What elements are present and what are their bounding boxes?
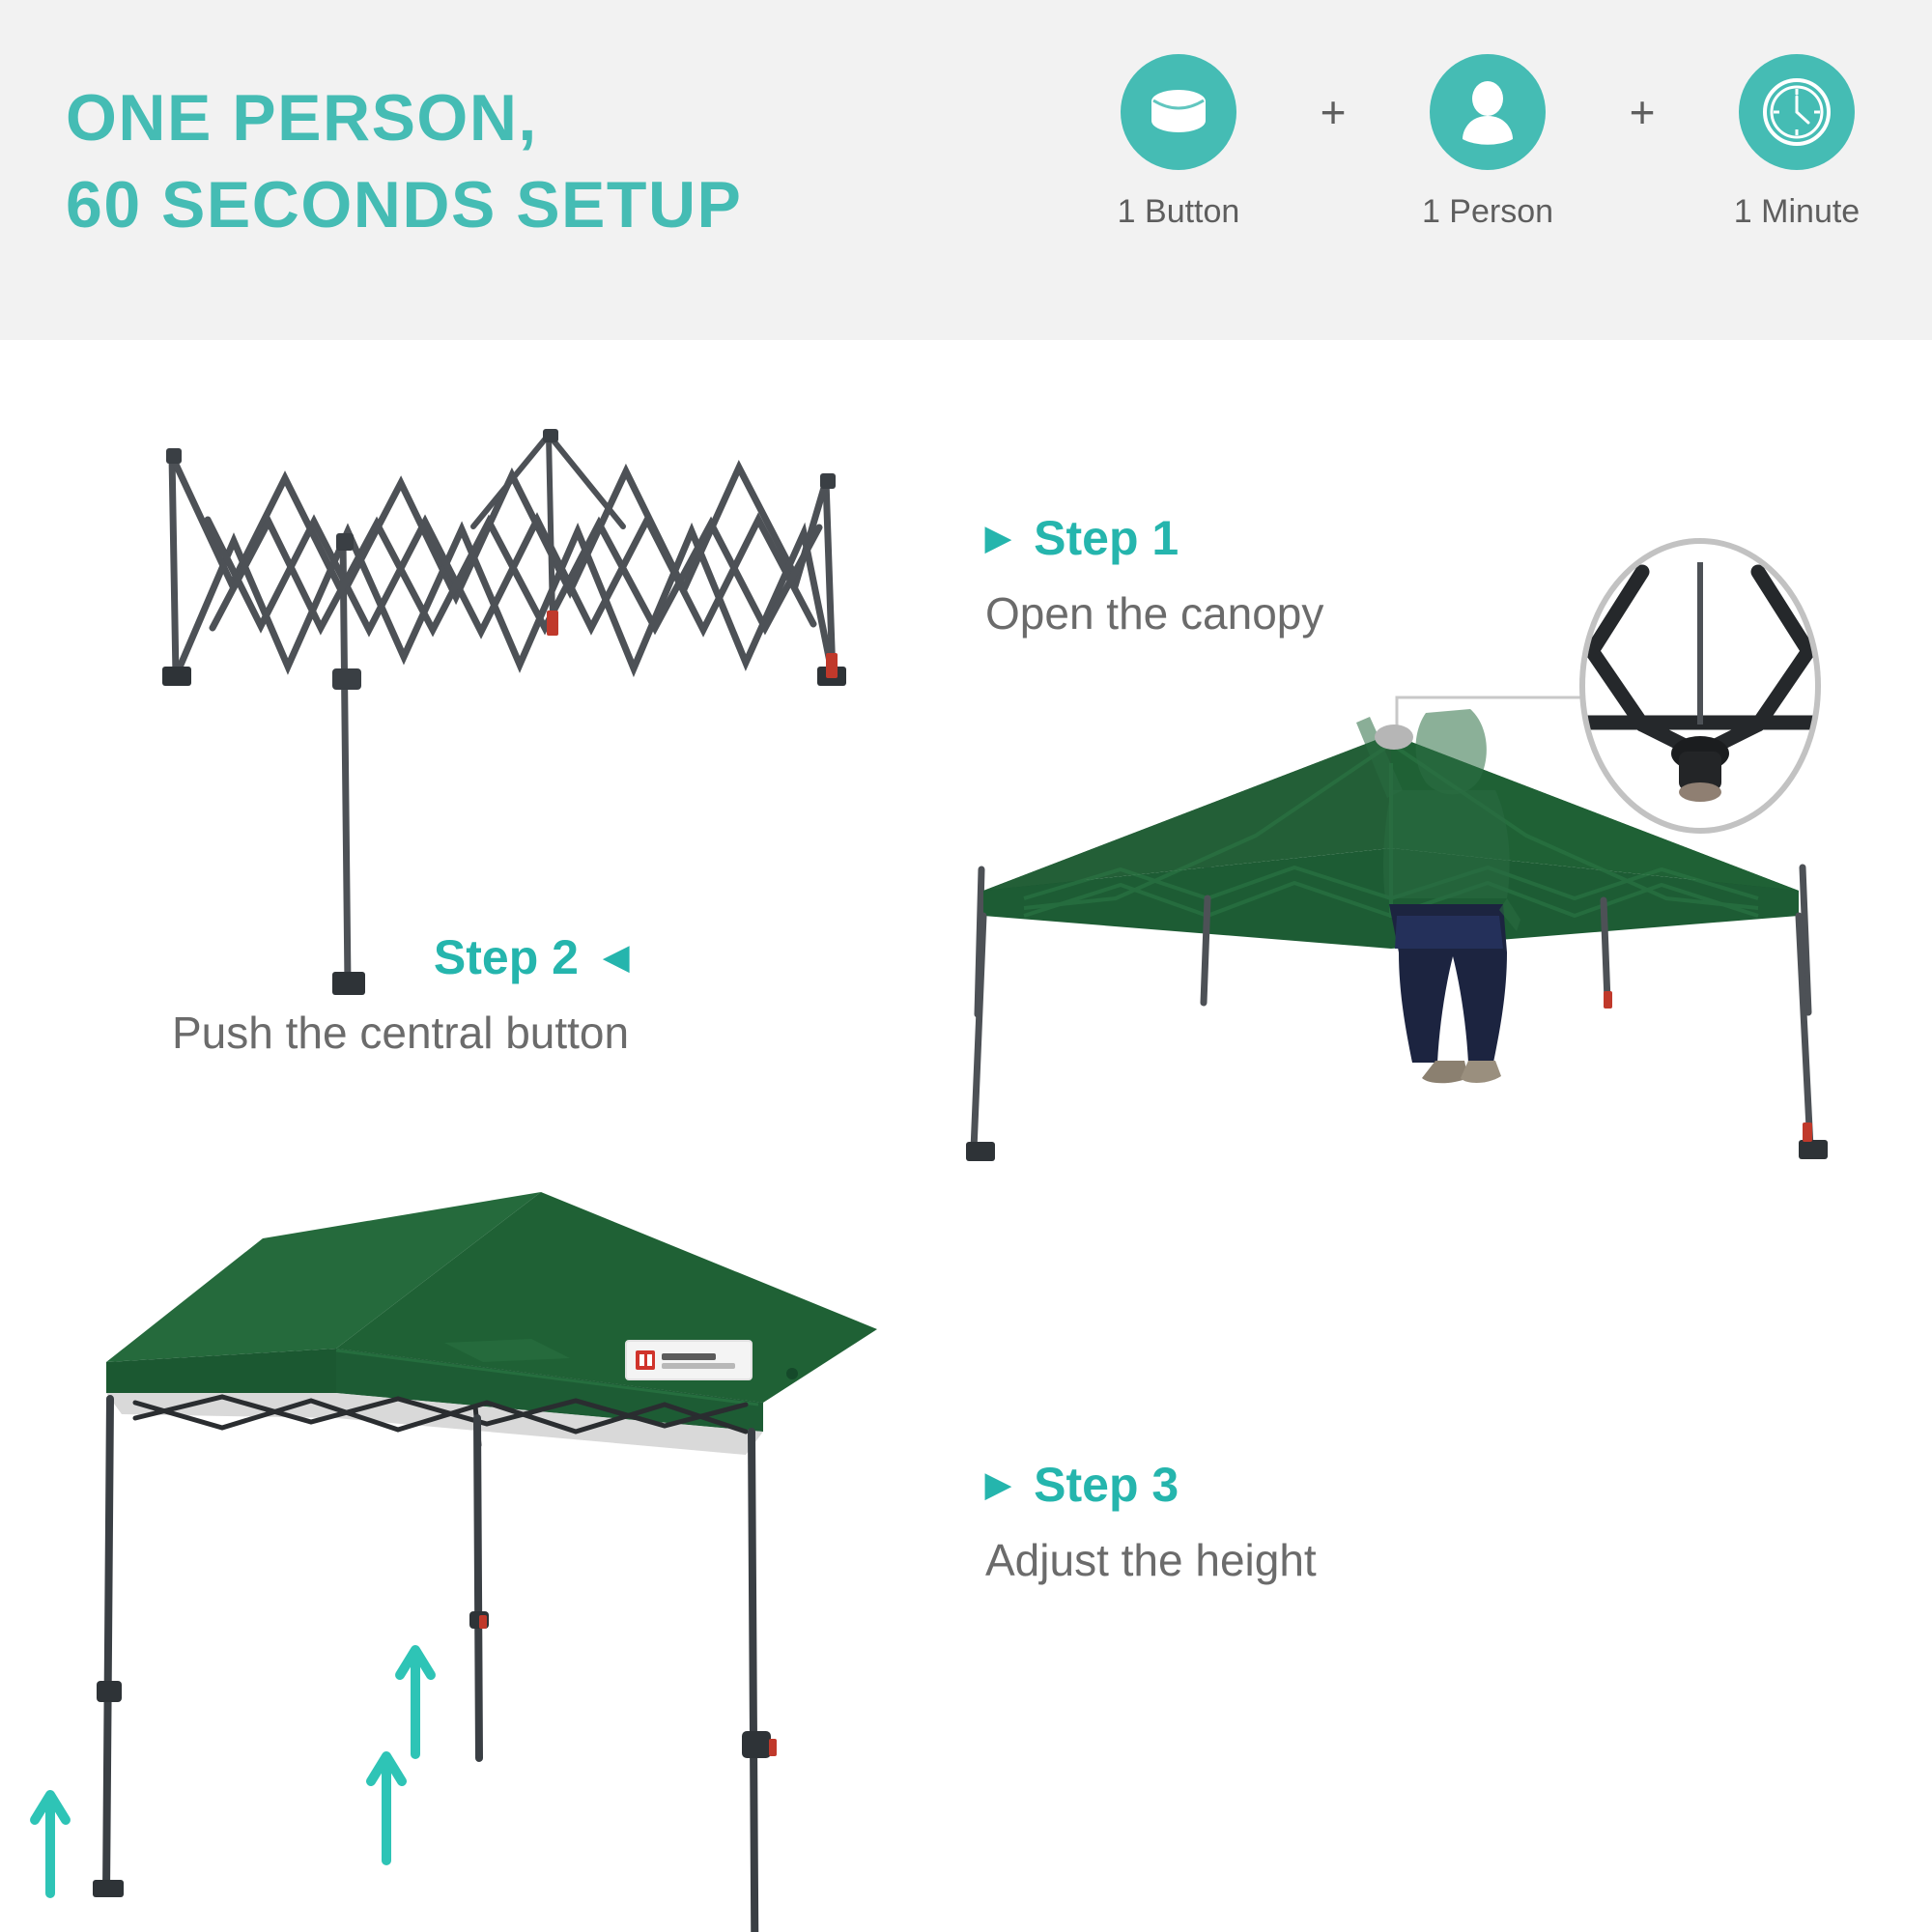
step-2-title: Step 2 [434, 929, 579, 985]
feature-disc-clock [1739, 54, 1855, 170]
person-icon [1459, 79, 1517, 145]
canopy-feet [966, 1140, 1828, 1161]
feature-label-minute: 1 Minute [1734, 193, 1860, 231]
step-3-block: ▶ Step 3 Adjust the height [985, 1457, 1317, 1586]
collapsible-steel-frame-illustration [116, 386, 879, 889]
step-2-block: Step 2 ◀ Push the central button [172, 929, 629, 1059]
page-title: ONE PERSON, 60 SECONDS SETUP [66, 75, 742, 249]
feature-disc-person [1430, 54, 1546, 170]
extra-height-arrow [328, 1642, 444, 1864]
step-1-title: Step 1 [1034, 510, 1179, 566]
feature-icon-row: 1 Button + 1 Person + [1101, 54, 1874, 296]
step-3-description: Adjust the height [985, 1534, 1317, 1586]
plus-separator-2: + [1623, 54, 1662, 170]
feature-label-person: 1 Person [1422, 193, 1553, 231]
central-button-detail-circle [1582, 541, 1818, 831]
canopy-feet-adjust [93, 1880, 773, 1932]
canopy-height-adjust-illustration [29, 1179, 898, 1874]
button-puck-icon [1147, 83, 1210, 141]
infographic-page: ONE PERSON, 60 SECONDS SETUP 1 Button + [0, 0, 1932, 1932]
feature-label-button: 1 Button [1118, 193, 1240, 231]
feature-disc-button [1121, 54, 1236, 170]
callout-anchor-dot [1375, 724, 1413, 750]
feature-1-minute: 1 Minute [1719, 54, 1874, 231]
step-3-title: Step 3 [1034, 1457, 1179, 1513]
step-2-description: Push the central button [172, 1007, 629, 1059]
clock-icon [1760, 75, 1833, 149]
step-1-heading: ▶ Step 1 [985, 510, 1323, 566]
step-2-heading: Step 2 ◀ [172, 929, 629, 985]
height-adjust-arrow-4 [371, 1756, 402, 1861]
triangle-right-icon: ▶ [985, 1468, 1010, 1501]
step-3-heading: ▶ Step 3 [985, 1457, 1317, 1513]
brand-logo-patch [626, 1341, 752, 1379]
feature-1-button: 1 Button [1101, 54, 1256, 231]
feature-1-person: 1 Person [1410, 54, 1565, 231]
header-band: ONE PERSON, 60 SECONDS SETUP 1 Button + [0, 0, 1932, 340]
plus-separator-1: + [1314, 54, 1352, 170]
triangle-right-icon: ▶ [985, 522, 1010, 554]
canopy-with-person-illustration [966, 609, 1816, 1246]
canopy-underside [106, 1393, 763, 1455]
triangle-left-icon: ◀ [604, 941, 629, 974]
